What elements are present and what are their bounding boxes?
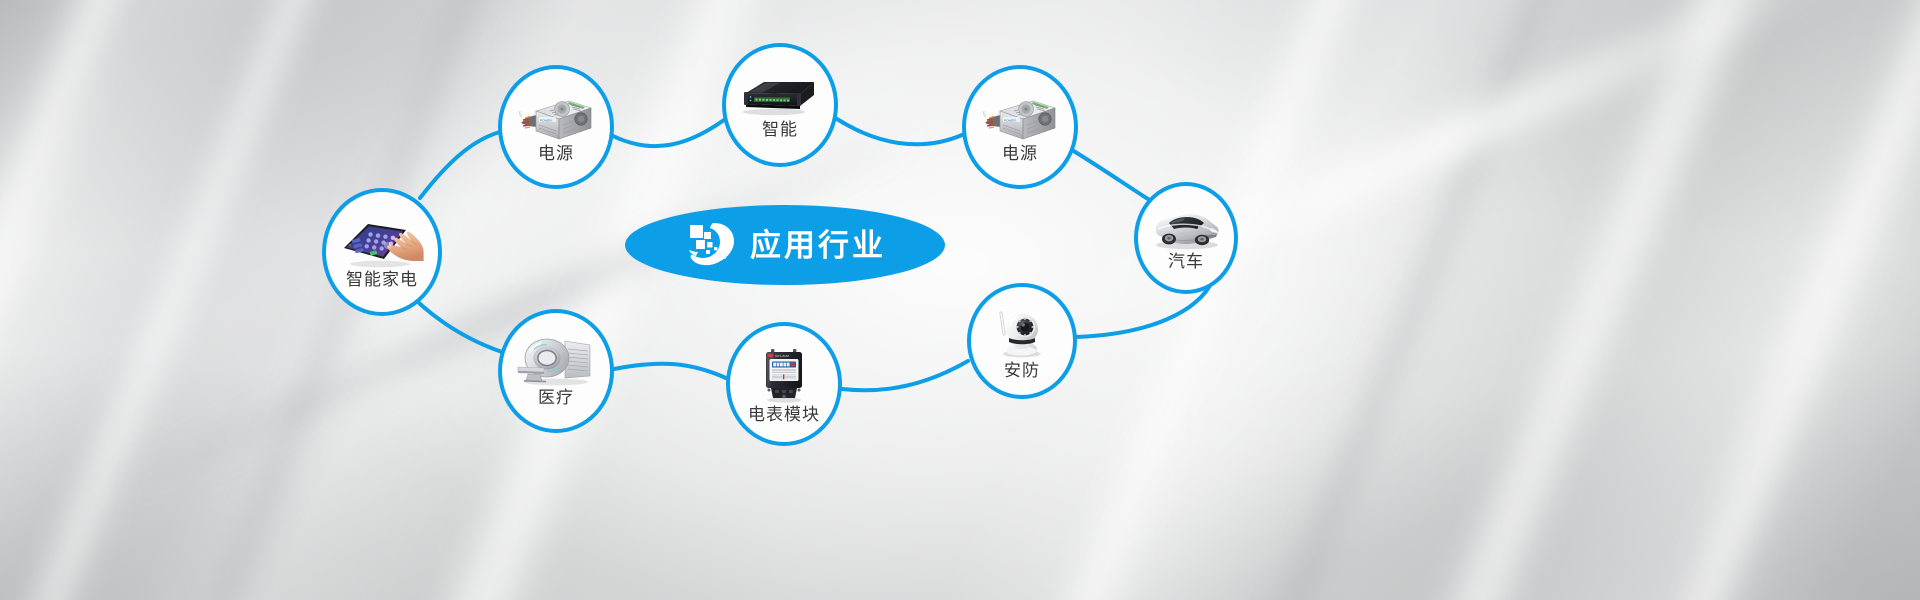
node-label: 医疗	[538, 389, 574, 406]
node-label: 电表模块	[748, 406, 820, 423]
node-label: 电源	[538, 145, 574, 162]
ct-scanner-icon	[516, 337, 596, 387]
pc-power-supply-icon: POWER	[983, 93, 1057, 143]
svg-text:DDS-8188: DDS-8188	[775, 354, 789, 358]
node-medical[interactable]: 医疗	[498, 309, 614, 433]
link-power-left-to-smart	[613, 120, 724, 146]
link-meter-module-to-medical	[614, 364, 726, 378]
node-smart[interactable]: 智能	[722, 43, 838, 167]
center-badge[interactable]: 应用行业	[625, 205, 945, 285]
connection-links	[0, 0, 1920, 600]
application-industry-diagram: POWER 电源	[0, 0, 1920, 600]
rack-server-icon	[740, 73, 820, 119]
node-label: 智能	[762, 121, 798, 138]
sports-car-icon	[1149, 207, 1223, 251]
node-label: 安防	[1004, 362, 1040, 379]
pc-power-supply-icon: POWER	[519, 93, 593, 143]
ip-camera-icon	[991, 304, 1053, 360]
node-power-right[interactable]: POWER 电源	[962, 65, 1078, 189]
node-smart-home[interactable]: 智能家电	[322, 188, 442, 316]
node-automotive[interactable]: 汽车	[1134, 182, 1238, 294]
node-label: 电源	[1002, 145, 1038, 162]
tablet-touch-hand-icon	[340, 217, 424, 269]
node-security[interactable]: 安防	[967, 283, 1077, 399]
svg-text:POWER: POWER	[1004, 118, 1016, 122]
electric-meter-icon: DDS-8188	[758, 346, 810, 404]
link-security-to-meter-module	[842, 361, 968, 390]
node-meter-module[interactable]: DDS-8188	[726, 322, 842, 446]
svg-text:POWER: POWER	[540, 118, 552, 122]
node-label: 汽车	[1168, 253, 1204, 270]
node-power-left[interactable]: POWER 电源	[498, 65, 614, 189]
node-label: 智能家电	[346, 271, 418, 288]
link-smart-to-power-right	[837, 119, 962, 144]
link-power-right-to-automotive	[1072, 150, 1156, 204]
orbit-pixel-logo-icon	[684, 220, 738, 270]
center-badge-label: 应用行业	[750, 230, 886, 261]
link-smart-home-to-power-left	[420, 132, 500, 198]
